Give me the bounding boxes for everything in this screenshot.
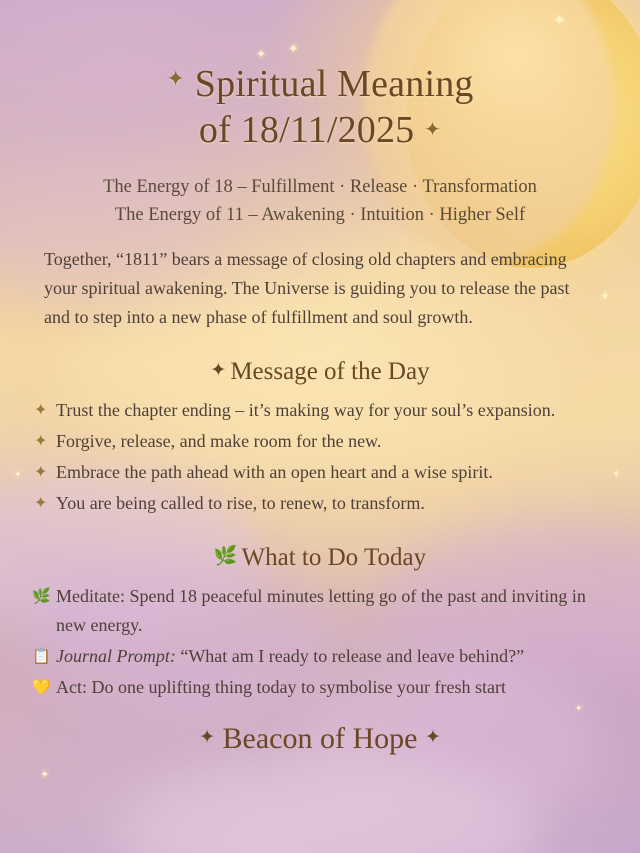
list-item-text: You are being called to rise, to renew, … xyxy=(56,493,425,513)
sparkle-bullet-icon: ✦ xyxy=(34,458,47,487)
poster-content: ✦ Spiritual Meaning of 18/11/2025 ✦ The … xyxy=(0,0,640,853)
yellow-heart-icon: 💛 xyxy=(32,674,51,703)
intro-paragraph: Together, “1811” bears a message of clos… xyxy=(44,245,596,332)
sparkle-icon: ✦ xyxy=(210,360,226,381)
what-to-do-today-list: 🌿 Meditate: Spend 18 peaceful minutes le… xyxy=(0,582,640,702)
sparkle-icon: ✦ xyxy=(199,727,215,748)
message-of-the-day-list: ✦ Trust the chapter ending – it’s making… xyxy=(0,396,640,518)
list-item-text: Forgive, release, and make room for the … xyxy=(56,431,381,451)
herb-leaf-icon: 🌿 xyxy=(32,583,51,612)
list-item: 📋 Journal Prompt: “What am I ready to re… xyxy=(56,642,596,671)
sparkle-icon: ✦ xyxy=(425,727,441,748)
list-item-text: Trust the chapter ending – it’s making w… xyxy=(56,400,555,420)
sparkle-bullet-icon: ✦ xyxy=(34,427,47,456)
list-item-text: “What am I ready to release and leave be… xyxy=(176,646,524,666)
energy-line-11: The Energy of 11 – Awakening · Intuition… xyxy=(0,201,640,229)
section-heading-message-of-the-day: ✦Message of the Day xyxy=(0,358,640,386)
sparkle-icon: ✦ xyxy=(166,66,185,91)
list-item-text: Embrace the path ahead with an open hear… xyxy=(56,462,493,482)
list-item-text: Spend 18 peaceful minutes letting go of … xyxy=(56,586,586,635)
list-item: 🌿 Meditate: Spend 18 peaceful minutes le… xyxy=(56,582,596,640)
footer-heading-text: Beacon of Hope xyxy=(223,722,418,755)
list-item: 💛 Act: Do one uplifting thing today to s… xyxy=(56,673,596,702)
notebook-icon: 📋 xyxy=(32,643,51,672)
title-line-1: Spiritual Meaning xyxy=(195,63,474,105)
title-line-2: of 18/11/2025 xyxy=(199,109,414,151)
list-item: ✦ Embrace the path ahead with an open he… xyxy=(56,458,596,487)
section-heading-text: Message of the Day xyxy=(230,358,429,385)
list-item-text: Do one uplifting thing today to symbolis… xyxy=(87,677,506,697)
poster-canvas: ✦ ✦ ✦ ✦ ✦ ✦ ✦ ✦ ✦ ✦ Spiritual Meaning of… xyxy=(0,0,640,853)
list-item: ✦ Trust the chapter ending – it’s making… xyxy=(56,396,596,425)
sparkle-bullet-icon: ✦ xyxy=(34,396,47,425)
list-item-label: Journal Prompt: xyxy=(56,646,176,666)
footer-heading: ✦ Beacon of Hope ✦ xyxy=(0,722,640,756)
section-heading-text: What to Do Today xyxy=(242,544,427,571)
sparkle-bullet-icon: ✦ xyxy=(34,489,47,518)
list-item-label: Meditate: xyxy=(56,586,125,606)
sparkle-icon: ✦ xyxy=(424,119,441,141)
list-item: ✦ Forgive, release, and make room for th… xyxy=(56,427,596,456)
list-item: ✦ You are being called to rise, to renew… xyxy=(56,489,596,518)
page-title: ✦ Spiritual Meaning of 18/11/2025 ✦ xyxy=(0,0,640,153)
herb-leaf-icon: 🌿 xyxy=(214,546,238,567)
section-heading-what-to-do-today: 🌿What to Do Today xyxy=(0,544,640,572)
energy-lines: The Energy of 18 – Fulfillment · Release… xyxy=(0,173,640,229)
energy-line-18: The Energy of 18 – Fulfillment · Release… xyxy=(0,173,640,201)
list-item-label: Act: xyxy=(56,677,87,697)
